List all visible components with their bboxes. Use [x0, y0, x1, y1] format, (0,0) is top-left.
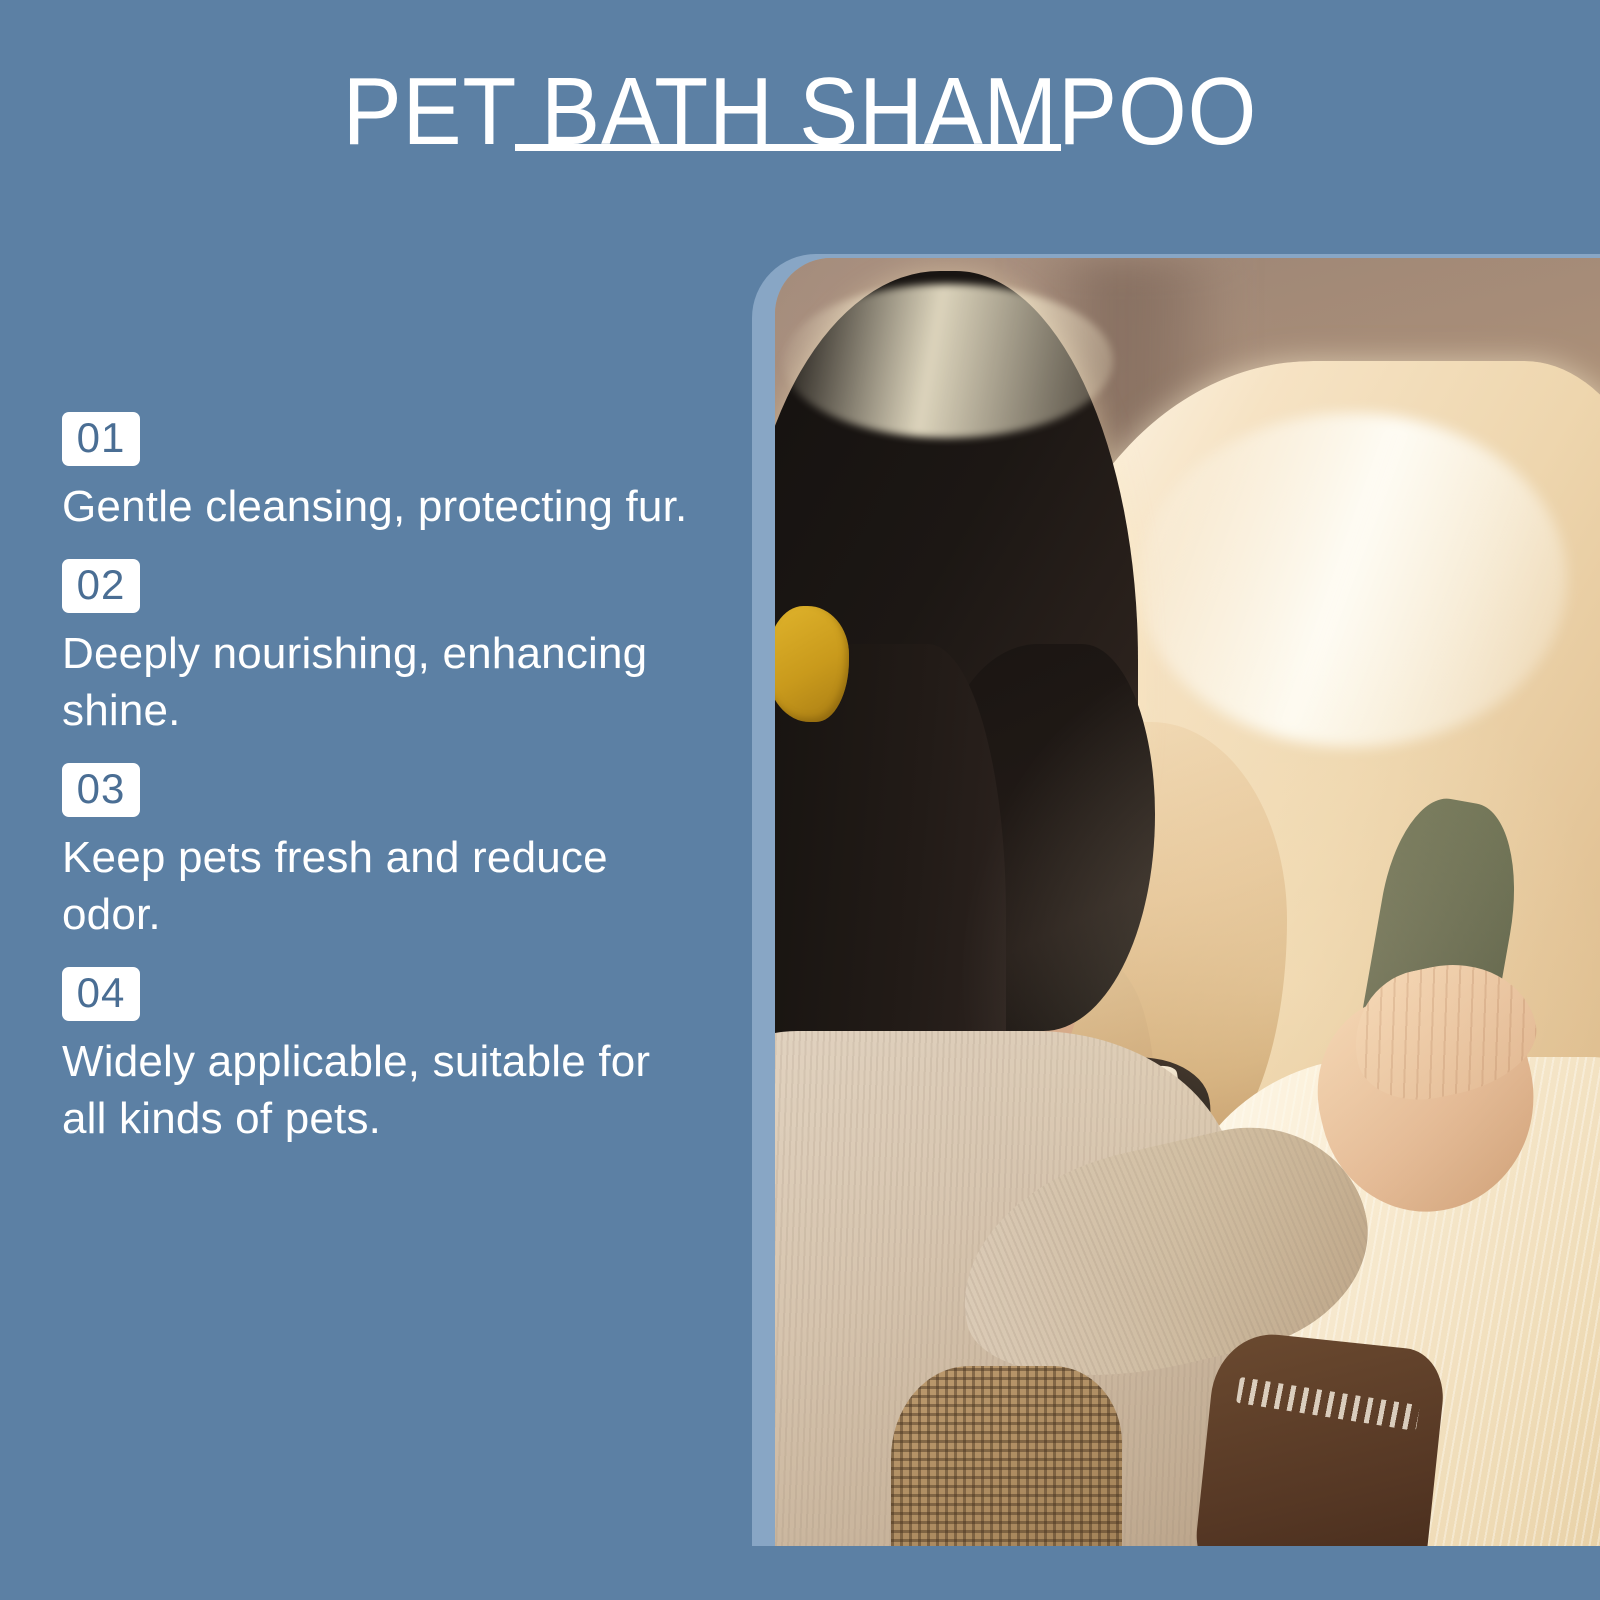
- feature-list: 01 Gentle cleansing, protecting fur. 02 …: [62, 412, 707, 1147]
- photo-leash-strap: [1191, 1329, 1448, 1546]
- feature-item: 03 Keep pets fresh and reduce odor.: [62, 763, 707, 943]
- feature-item: 02 Deeply nourishing, enhancing shine.: [62, 559, 707, 739]
- feature-item: 01 Gentle cleansing, protecting fur.: [62, 412, 707, 535]
- feature-number: 03: [77, 765, 126, 812]
- feature-number: 02: [77, 561, 126, 608]
- title-underline-rule: [515, 144, 1061, 151]
- feature-number: 04: [77, 969, 126, 1016]
- feature-text: Widely applicable, suitable for all kind…: [62, 1033, 702, 1147]
- feature-number-badge: 03: [62, 763, 140, 817]
- feature-number-badge: 04: [62, 967, 140, 1021]
- hero-photo: [775, 258, 1600, 1546]
- feature-item: 04 Widely applicable, suitable for all k…: [62, 967, 707, 1147]
- feature-text: Deeply nourishing, enhancing shine.: [62, 625, 702, 739]
- photo-girl-skirt: [891, 1366, 1122, 1546]
- feature-number-badge: 02: [62, 559, 140, 613]
- feature-number: 01: [77, 414, 126, 461]
- pet-shampoo-infographic: PET BATH SHAMPOO 01 Gentle cleansing, pr…: [0, 0, 1600, 1600]
- photo-girl-hair-tie: [775, 606, 849, 722]
- feature-text: Keep pets fresh and reduce odor.: [62, 829, 702, 943]
- photo-girl-hair-highlight: [783, 284, 1113, 439]
- feature-text: Gentle cleansing, protecting fur.: [62, 478, 702, 535]
- photo-dog-fur-highlight: [1138, 413, 1567, 748]
- feature-number-badge: 01: [62, 412, 140, 466]
